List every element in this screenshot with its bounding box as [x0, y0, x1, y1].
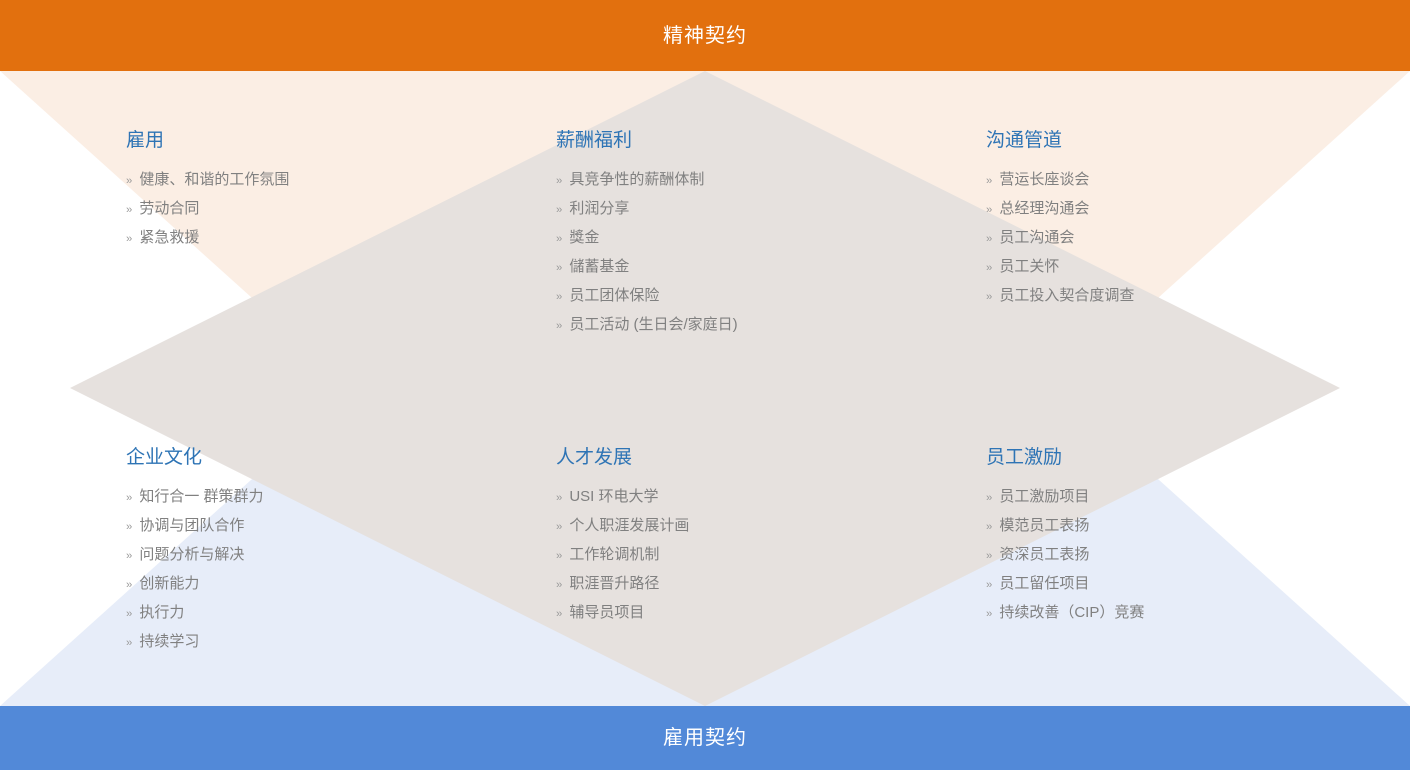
- column-item-list: ›› 健康、和谐的工作氛围 ›› 劳动合同 ›› 紧急救援: [126, 166, 556, 253]
- list-item-label: 模范员工表扬: [999, 512, 1089, 540]
- chevron-double-right-icon: ››: [126, 542, 131, 570]
- chevron-double-right-icon: ››: [126, 225, 131, 253]
- chevron-double-right-icon: ››: [126, 196, 131, 224]
- list-item[interactable]: ›› 儲蓄基金: [556, 253, 986, 282]
- column-communication-channels: 沟通管道 ›› 营运长座谈会 ›› 总经理沟通会 ›› 员工沟通会 ›› 员工关…: [986, 71, 1410, 385]
- list-item[interactable]: ›› 工作轮调机制: [556, 541, 986, 570]
- column-heading: 沟通管道: [986, 71, 1410, 150]
- column-heading: 企业文化: [126, 385, 556, 467]
- columns-grid: 雇用 ›› 健康、和谐的工作氛围 ›› 劳动合同 ›› 紧急救援 薪酬福利: [0, 71, 1410, 706]
- column-item-list: ›› 知行合一 群策群力 ›› 协调与团队合作 ›› 问题分析与解决 ›› 创新…: [126, 483, 556, 657]
- column-heading: 人才发展: [556, 385, 986, 467]
- column-item-list: ›› 员工激励项目 ›› 模范员工表扬 ›› 资深员工表扬 ›› 员工留任项目 …: [986, 483, 1410, 628]
- list-item-label: 工作轮调机制: [569, 541, 659, 569]
- chevron-double-right-icon: ››: [126, 629, 131, 657]
- list-item[interactable]: ›› 健康、和谐的工作氛围: [126, 166, 556, 195]
- list-item-label: 员工团体保险: [569, 282, 659, 310]
- list-item-label: 辅导员项目: [569, 599, 644, 627]
- list-item-label: 职涯晋升路径: [569, 570, 659, 598]
- list-item-label: 执行力: [139, 599, 184, 627]
- header-band: 精神契约: [0, 0, 1410, 71]
- footer-band: 雇用契约: [0, 706, 1410, 770]
- list-item[interactable]: ›› 协调与团队合作: [126, 512, 556, 541]
- list-item[interactable]: ›› 员工留任项目: [986, 570, 1410, 599]
- list-item[interactable]: ›› 持续改善（CIP）竞赛: [986, 599, 1410, 628]
- list-item-label: 个人职涯发展计画: [569, 512, 689, 540]
- column-heading: 薪酬福利: [556, 71, 986, 150]
- column-talent-development: 人才发展 ›› USI 环电大学 ›› 个人职涯发展计画 ›› 工作轮调机制 ›…: [556, 385, 986, 706]
- column-heading: 员工激励: [986, 385, 1410, 467]
- list-item[interactable]: ›› 员工团体保险: [556, 282, 986, 311]
- column-compensation-benefits: 薪酬福利 ›› 具竞争性的薪酬体制 ›› 利润分享 ›› 獎金 ›› 儲蓄基金: [556, 71, 986, 385]
- list-item-label: 持续改善（CIP）竞赛: [999, 599, 1144, 627]
- chevron-double-right-icon: ››: [556, 225, 561, 253]
- column-item-list: ›› 具竞争性的薪酬体制 ›› 利润分享 ›› 獎金 ›› 儲蓄基金 ››: [556, 166, 986, 340]
- chevron-double-right-icon: ››: [986, 167, 991, 195]
- list-item-label: 员工沟通会: [999, 224, 1074, 252]
- chevron-double-right-icon: ››: [986, 571, 991, 599]
- list-item[interactable]: ›› 利润分享: [556, 195, 986, 224]
- list-item-label: 创新能力: [139, 570, 199, 598]
- list-item[interactable]: ›› USI 环电大学: [556, 483, 986, 512]
- list-item[interactable]: ›› 紧急救援: [126, 224, 556, 253]
- chevron-double-right-icon: ››: [986, 600, 991, 628]
- list-item-label: 员工激励项目: [999, 483, 1089, 511]
- list-item[interactable]: ›› 具竞争性的薪酬体制: [556, 166, 986, 195]
- list-item-label: 总经理沟通会: [999, 195, 1089, 223]
- list-item[interactable]: ›› 员工激励项目: [986, 483, 1410, 512]
- list-item[interactable]: ›› 职涯晋升路径: [556, 570, 986, 599]
- chevron-double-right-icon: ››: [556, 196, 561, 224]
- list-item[interactable]: ›› 员工投入契合度调查: [986, 282, 1410, 311]
- chevron-double-right-icon: ››: [556, 571, 561, 599]
- list-item[interactable]: ›› 员工活动 (生日会/家庭日): [556, 311, 986, 340]
- list-item-label: 健康、和谐的工作氛围: [139, 166, 289, 194]
- list-item[interactable]: ›› 营运长座谈会: [986, 166, 1410, 195]
- column-employment: 雇用 ›› 健康、和谐的工作氛围 ›› 劳动合同 ›› 紧急救援: [126, 71, 556, 385]
- footer-title: 雇用契约: [663, 728, 747, 748]
- list-item-label: USI 环电大学: [569, 483, 658, 511]
- chevron-double-right-icon: ››: [556, 312, 561, 340]
- list-item-label: 劳动合同: [139, 195, 199, 223]
- list-item-label: 儲蓄基金: [569, 253, 629, 281]
- list-item[interactable]: ›› 持续学习: [126, 628, 556, 657]
- list-item-label: 员工留任项目: [999, 570, 1089, 598]
- column-item-list: ›› 营运长座谈会 ›› 总经理沟通会 ›› 员工沟通会 ›› 员工关怀 ››: [986, 166, 1410, 311]
- list-item-label: 紧急救援: [139, 224, 199, 252]
- list-item-label: 利润分享: [569, 195, 629, 223]
- chevron-double-right-icon: ››: [556, 484, 561, 512]
- list-item[interactable]: ›› 资深员工表扬: [986, 541, 1410, 570]
- list-item[interactable]: ›› 知行合一 群策群力: [126, 483, 556, 512]
- chevron-double-right-icon: ››: [986, 542, 991, 570]
- list-item[interactable]: ›› 员工沟通会: [986, 224, 1410, 253]
- chevron-double-right-icon: ››: [126, 484, 131, 512]
- chevron-double-right-icon: ››: [556, 283, 561, 311]
- column-heading: 雇用: [126, 71, 556, 150]
- list-item[interactable]: ›› 獎金: [556, 224, 986, 253]
- header-title: 精神契约: [663, 26, 747, 46]
- list-item-label: 问题分析与解决: [139, 541, 244, 569]
- list-item-label: 员工关怀: [999, 253, 1059, 281]
- list-item[interactable]: ›› 个人职涯发展计画: [556, 512, 986, 541]
- column-employee-incentives: 员工激励 ›› 员工激励项目 ›› 模范员工表扬 ›› 资深员工表扬 ›› 员工…: [986, 385, 1410, 706]
- list-item[interactable]: ›› 问题分析与解决: [126, 541, 556, 570]
- list-item-label: 协调与团队合作: [139, 512, 244, 540]
- list-item-label: 具竞争性的薪酬体制: [569, 166, 704, 194]
- list-item-label: 员工活动 (生日会/家庭日): [569, 311, 737, 339]
- chevron-double-right-icon: ››: [556, 542, 561, 570]
- chevron-double-right-icon: ››: [986, 225, 991, 253]
- list-item-label: 獎金: [569, 224, 599, 252]
- chevron-double-right-icon: ››: [126, 571, 131, 599]
- list-item[interactable]: ›› 员工关怀: [986, 253, 1410, 282]
- chevron-double-right-icon: ››: [556, 513, 561, 541]
- chevron-double-right-icon: ››: [556, 254, 561, 282]
- list-item-label: 知行合一 群策群力: [139, 483, 263, 511]
- list-item-label: 资深员工表扬: [999, 541, 1089, 569]
- chevron-double-right-icon: ››: [556, 167, 561, 195]
- chevron-double-right-icon: ››: [126, 513, 131, 541]
- chevron-double-right-icon: ››: [986, 484, 991, 512]
- infographic-canvas: 精神契约 雇用 ›› 健康、和谐的工作氛围 ›› 劳动合同 ›› 紧急救援: [0, 0, 1410, 770]
- chevron-double-right-icon: ››: [126, 167, 131, 195]
- list-item[interactable]: ›› 模范员工表扬: [986, 512, 1410, 541]
- list-item[interactable]: ›› 辅导员项目: [556, 599, 986, 628]
- chevron-double-right-icon: ››: [556, 600, 561, 628]
- list-item-label: 员工投入契合度调查: [999, 282, 1134, 310]
- list-item-label: 持续学习: [139, 628, 199, 656]
- column-item-list: ›› USI 环电大学 ›› 个人职涯发展计画 ›› 工作轮调机制 ›› 职涯晋…: [556, 483, 986, 628]
- chevron-double-right-icon: ››: [126, 600, 131, 628]
- chevron-double-right-icon: ››: [986, 283, 991, 311]
- list-item-label: 营运长座谈会: [999, 166, 1089, 194]
- list-item[interactable]: ›› 总经理沟通会: [986, 195, 1410, 224]
- list-item[interactable]: ›› 创新能力: [126, 570, 556, 599]
- list-item[interactable]: ›› 执行力: [126, 599, 556, 628]
- chevron-double-right-icon: ››: [986, 513, 991, 541]
- chevron-double-right-icon: ››: [986, 196, 991, 224]
- chevron-double-right-icon: ››: [986, 254, 991, 282]
- list-item[interactable]: ›› 劳动合同: [126, 195, 556, 224]
- column-corporate-culture: 企业文化 ›› 知行合一 群策群力 ›› 协调与团队合作 ›› 问题分析与解决 …: [126, 385, 556, 706]
